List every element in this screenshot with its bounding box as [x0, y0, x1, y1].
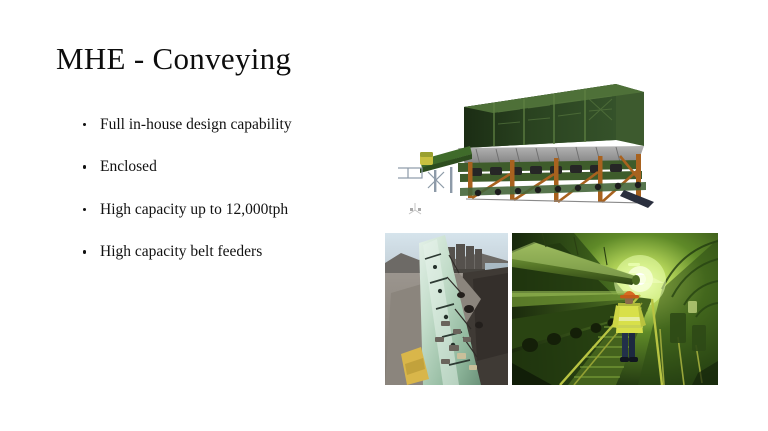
bullet-marker-icon [83, 208, 86, 211]
tunnel-conveyor-photo [512, 233, 718, 385]
bullet-item-label: High capacity up to 12,000tph [100, 201, 288, 218]
bullet-item: High capacity belt feeders [80, 242, 380, 261]
slide-canvas: MHE - Conveying Full in-house design cap… [0, 0, 768, 431]
bullet-item: High capacity up to 12,000tph [80, 200, 380, 219]
bullet-item: Full in-house design capability [80, 115, 380, 134]
bullet-item: Enclosed [80, 157, 380, 176]
outdoor-conveyor-photo [385, 233, 508, 385]
bullet-marker-icon [83, 123, 86, 126]
bullet-item-label: Full in-house design capability [100, 116, 292, 133]
bullet-marker-icon [83, 250, 86, 253]
bullet-item-label: High capacity belt feeders [100, 243, 262, 260]
page-title: MHE - Conveying [56, 42, 291, 76]
bullet-list: Full in-house design capability Enclosed… [80, 115, 380, 262]
cad-render-image [398, 62, 718, 222]
bullet-item-label: Enclosed [100, 158, 157, 175]
bullet-marker-icon [83, 165, 86, 168]
